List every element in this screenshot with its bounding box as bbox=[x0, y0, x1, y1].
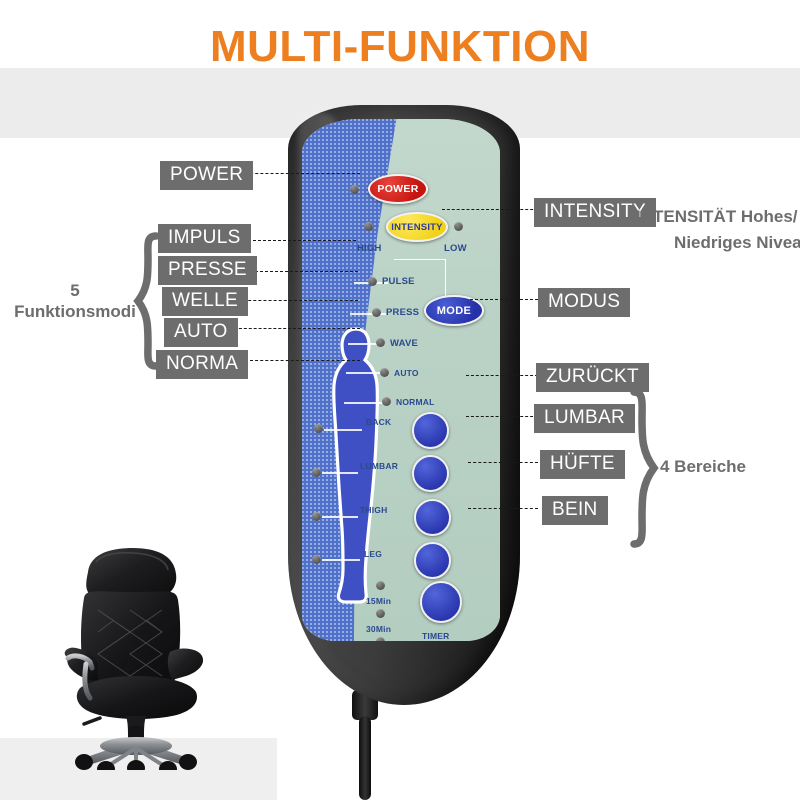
wave-label: WAVE bbox=[390, 338, 418, 349]
leg-dot bbox=[312, 555, 321, 564]
timer-label: TIMER bbox=[422, 631, 449, 641]
leader-auto bbox=[234, 328, 360, 329]
wave-dot bbox=[376, 338, 385, 347]
leader-welle bbox=[238, 300, 358, 301]
face-line-thigh bbox=[322, 516, 358, 518]
callout-huefte[interactable]: HÜFTE bbox=[540, 450, 625, 479]
press-label: PRESS bbox=[386, 307, 419, 318]
leader-power bbox=[240, 173, 360, 174]
callout-impuls[interactable]: IMPULS bbox=[158, 224, 251, 253]
timer-15-dot bbox=[376, 581, 385, 590]
intensity-low-label: LOW bbox=[444, 243, 467, 254]
face-line-leg bbox=[322, 559, 360, 561]
face-line-lumbar bbox=[322, 472, 358, 474]
callout-bein[interactable]: BEIN bbox=[542, 496, 608, 525]
leader-intensity bbox=[442, 209, 538, 210]
remote-faceplate: POWER INTENSITY HIGH LOW PULSE PRESS WAV… bbox=[302, 119, 500, 641]
callout-norma[interactable]: NORMA bbox=[156, 350, 248, 379]
callout-presse[interactable]: PRESSE bbox=[158, 256, 257, 285]
face-line-normal bbox=[344, 402, 382, 404]
press-dot bbox=[372, 308, 381, 317]
timer-60-dot bbox=[376, 637, 385, 641]
power-indicator-dot bbox=[350, 185, 359, 194]
timer-30-dot bbox=[376, 609, 385, 618]
pulse-dot bbox=[368, 277, 377, 286]
timer-30-label: 30Min bbox=[366, 624, 391, 634]
thigh-dot bbox=[312, 512, 321, 521]
leader-norma bbox=[250, 360, 360, 361]
modes-label: Funktionsmodi bbox=[14, 302, 136, 321]
office-chair-image bbox=[40, 540, 240, 770]
intensity-low-dot bbox=[454, 222, 463, 231]
leader-bein bbox=[468, 508, 538, 509]
intensity-note: INTENSITÄT Hohes/ Niedriges Niveau bbox=[636, 204, 800, 255]
callout-power[interactable]: POWER bbox=[160, 161, 253, 190]
thigh-button[interactable] bbox=[414, 499, 451, 536]
auto-dot bbox=[380, 368, 389, 377]
intensity-note-line1: INTENSITÄT Hohes/ bbox=[636, 204, 800, 230]
lumbar-dot bbox=[312, 468, 321, 477]
callout-welle[interactable]: WELLE bbox=[162, 287, 248, 316]
modes-count: 5 bbox=[70, 281, 79, 300]
leader-presse bbox=[240, 271, 358, 272]
leg-label: LEG bbox=[364, 549, 382, 559]
face-line-back bbox=[324, 429, 362, 431]
normal-label: NORMAL bbox=[396, 397, 435, 407]
page-title: MULTI-FUNKTION bbox=[0, 22, 800, 72]
leader-zurueckt bbox=[466, 375, 538, 376]
callout-modus[interactable]: MODUS bbox=[538, 288, 630, 317]
intensity-note-line2: Niedriges Niveau bbox=[636, 230, 800, 256]
leader-huefte bbox=[468, 462, 538, 463]
timer-button[interactable] bbox=[420, 581, 462, 623]
callout-zurueckt[interactable]: ZURÜCKT bbox=[536, 363, 649, 392]
back-button[interactable] bbox=[412, 412, 449, 449]
auto-label: AUTO bbox=[394, 368, 419, 378]
face-line-auto bbox=[346, 372, 382, 374]
slide-canvas: MULTI-FUNKTION POWER bbox=[0, 0, 800, 800]
callout-lumbar[interactable]: LUMBAR bbox=[534, 404, 635, 433]
lumbar-label: LUMBAR bbox=[360, 461, 398, 471]
pulse-label: PULSE bbox=[382, 276, 415, 287]
intensity-high-label: HIGH bbox=[357, 243, 382, 254]
lumbar-button[interactable] bbox=[412, 455, 449, 492]
callout-auto[interactable]: AUTO bbox=[164, 318, 238, 347]
leg-button[interactable] bbox=[414, 542, 451, 579]
thigh-label: THIGH bbox=[360, 505, 387, 515]
intensity-button[interactable]: INTENSITY bbox=[386, 212, 448, 242]
remote-cable bbox=[359, 716, 371, 800]
leader-lumbar bbox=[466, 416, 538, 417]
back-dot bbox=[314, 424, 323, 433]
normal-dot bbox=[382, 397, 391, 406]
zones-group-text: 4 Bereiche bbox=[660, 456, 790, 477]
power-button[interactable]: POWER bbox=[368, 174, 428, 204]
back-label: BACK bbox=[366, 417, 391, 427]
leader-modus bbox=[470, 299, 538, 300]
timer-15-label: 15Min bbox=[366, 596, 391, 606]
leader-impuls bbox=[238, 240, 356, 241]
intensity-high-dot bbox=[364, 222, 373, 231]
remote-control: POWER INTENSITY HIGH LOW PULSE PRESS WAV… bbox=[288, 105, 520, 705]
